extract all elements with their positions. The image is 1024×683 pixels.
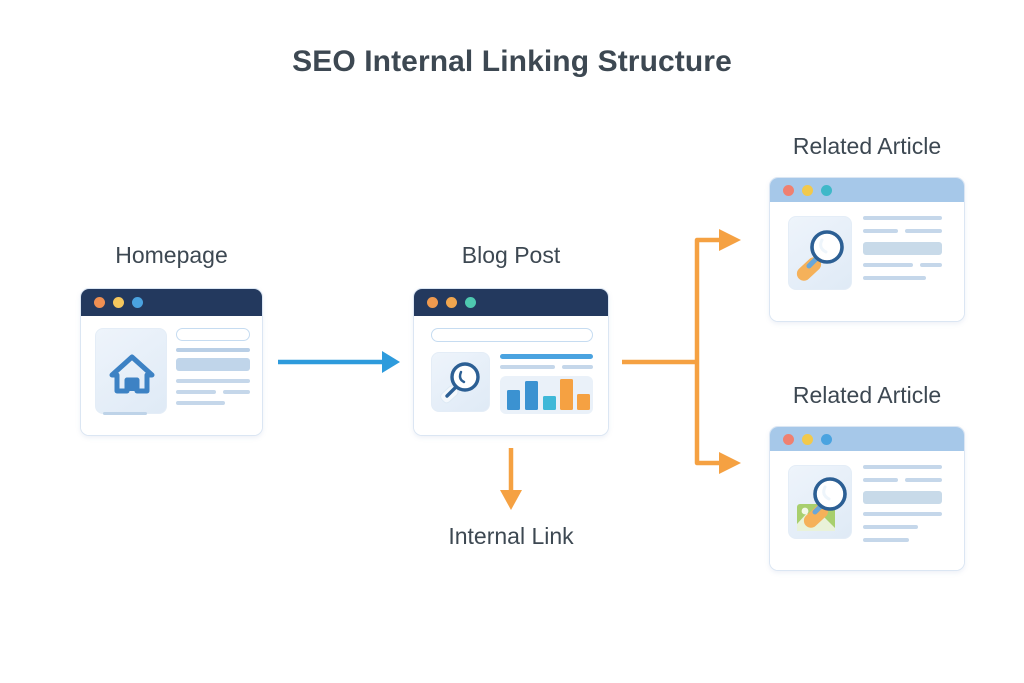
house-icon bbox=[96, 329, 168, 415]
blog-post-text-line bbox=[500, 365, 555, 369]
diagram-canvas: SEO Internal Linking Structure Homepage bbox=[0, 0, 1024, 683]
chart-bar bbox=[543, 396, 556, 410]
related-article-bottom-thumbnail-panel bbox=[788, 465, 852, 539]
homepage-text-line bbox=[176, 390, 216, 394]
node-label-homepage: Homepage bbox=[80, 242, 263, 269]
card-related-article-bottom[interactable] bbox=[769, 426, 965, 571]
window-dot-orange bbox=[427, 297, 438, 308]
related-article-bottom-text-line bbox=[863, 538, 909, 542]
related-article-bottom-title-bar bbox=[770, 427, 964, 451]
blog-post-card-body bbox=[414, 316, 608, 435]
chart-bar bbox=[507, 390, 520, 410]
magnifier-icon bbox=[432, 353, 491, 413]
blog-post-text-line-accent bbox=[500, 354, 593, 359]
card-blog-post[interactable] bbox=[413, 288, 609, 436]
related-article-bottom-text-line bbox=[863, 512, 942, 516]
node-label-blog-post: Blog Post bbox=[413, 242, 609, 269]
related-article-top-thumbnail-panel bbox=[788, 216, 852, 290]
blog-post-title-bar bbox=[414, 289, 608, 316]
homepage-panel-underline bbox=[103, 412, 147, 415]
related-article-top-text-line bbox=[863, 216, 942, 220]
window-dot-yellow bbox=[113, 297, 124, 308]
window-dot-orange bbox=[94, 297, 105, 308]
related-article-top-text-line bbox=[863, 229, 898, 233]
node-label-internal-link: Internal Link bbox=[411, 523, 611, 550]
related-article-top-text-block bbox=[863, 242, 942, 255]
homepage-card-body bbox=[81, 316, 262, 435]
related-article-top-text-line bbox=[905, 229, 942, 233]
card-homepage[interactable] bbox=[80, 288, 263, 436]
connector-blog-post-to-related-articles bbox=[622, 229, 741, 474]
homepage-search-pill[interactable] bbox=[176, 328, 250, 341]
chart-bar bbox=[525, 381, 538, 410]
homepage-text-line bbox=[223, 390, 250, 394]
window-dot-blue bbox=[132, 297, 143, 308]
related-article-top-card-body bbox=[770, 202, 964, 321]
related-article-top-text-line bbox=[863, 276, 926, 280]
window-dot-teal bbox=[821, 185, 832, 196]
related-article-top-text-line bbox=[863, 263, 913, 267]
related-article-bottom-text-block bbox=[863, 491, 942, 504]
window-dot-yellow bbox=[802, 434, 813, 445]
homepage-text-block bbox=[176, 358, 250, 371]
homepage-text-line bbox=[176, 401, 225, 405]
window-dot-yellow bbox=[802, 185, 813, 196]
related-article-bottom-text-line bbox=[905, 478, 942, 482]
window-dot-red bbox=[783, 185, 794, 196]
connector-homepage-to-blog-post bbox=[278, 351, 400, 373]
window-dot-amber bbox=[446, 297, 457, 308]
blog-post-thumbnail-panel bbox=[431, 352, 490, 412]
homepage-title-bar bbox=[81, 289, 262, 316]
page-title: SEO Internal Linking Structure bbox=[0, 45, 1024, 79]
homepage-thumbnail-panel bbox=[95, 328, 167, 414]
homepage-text-line bbox=[176, 379, 250, 383]
blog-post-text-line bbox=[562, 365, 593, 369]
window-dot-blue bbox=[821, 434, 832, 445]
blog-post-bar-chart bbox=[500, 376, 593, 414]
window-dot-teal bbox=[465, 297, 476, 308]
related-article-bottom-text-line bbox=[863, 478, 898, 482]
related-article-top-text-line bbox=[920, 263, 942, 267]
related-article-bottom-card-body bbox=[770, 451, 964, 570]
related-article-bottom-text-line bbox=[863, 525, 918, 529]
node-label-related-article-bottom: Related Article bbox=[769, 382, 965, 409]
magnifier-icon bbox=[789, 217, 853, 291]
magnifier-image-icon bbox=[789, 466, 853, 540]
chart-bar bbox=[577, 394, 590, 410]
related-article-top-title-bar bbox=[770, 178, 964, 202]
chart-bar bbox=[560, 379, 573, 410]
node-label-related-article-top: Related Article bbox=[769, 133, 965, 160]
connector-blog-post-to-internal-link bbox=[500, 448, 522, 510]
blog-post-search-pill[interactable] bbox=[431, 328, 593, 342]
homepage-text-line bbox=[176, 348, 250, 352]
card-related-article-top[interactable] bbox=[769, 177, 965, 322]
related-article-bottom-text-line bbox=[863, 465, 942, 469]
window-dot-red bbox=[783, 434, 794, 445]
